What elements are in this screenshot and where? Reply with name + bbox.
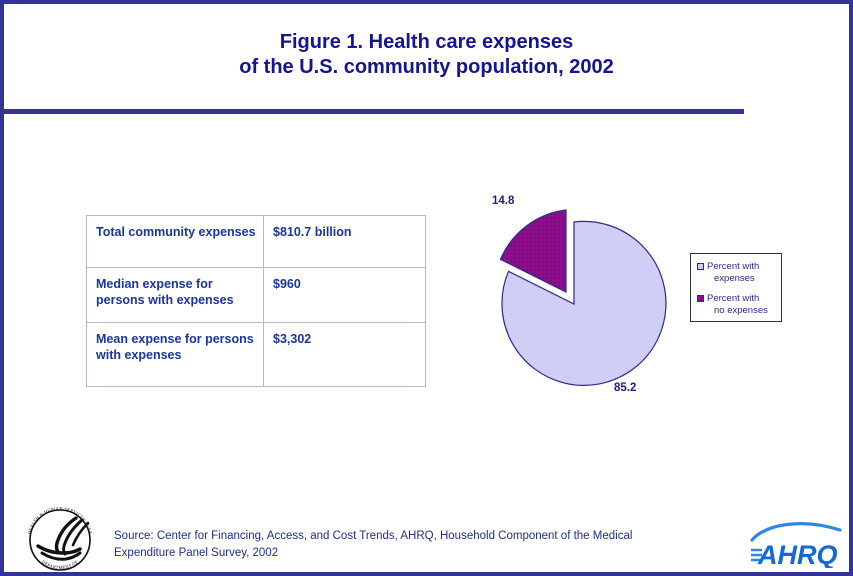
legend-item-percent-with-expenses: Percent with expenses [697,261,781,284]
pie-label-expenses: 85.2 [614,382,636,394]
source-note-line-2: Expenditure Panel Survey, 2002 [114,545,734,562]
legend-item-label-line-2: expenses [707,273,759,285]
table-row: Total community expenses $810.7 billion [87,216,426,268]
table-cell-label: Median expense for persons with expenses [87,268,264,323]
ahrq-logo: AHRQ [748,516,848,568]
table-cell-label: Total community expenses [87,216,264,268]
legend-item-label-line-1: Percent with [707,293,759,304]
table-cell-value: $810.7 billion [264,216,426,268]
table-cell-value: $3,302 [264,323,426,387]
pie-chart: 14.8 85.2 [474,189,689,404]
table-cell-label: Mean expense for persons with expenses [87,323,264,387]
legend-swatch-icon [697,295,704,302]
pie-label-no-expenses: 14.8 [492,195,514,207]
page-title-line-2: of the U.S. community population, 2002 [4,55,849,80]
slide-canvas: Figure 1. Health care expenses of the U.… [0,0,853,576]
source-note-line-1: Source: Center for Financing, Access, an… [114,528,734,545]
title-divider-rule [4,109,744,114]
summary-table: Total community expenses $810.7 billion … [86,215,426,387]
ahrq-logo-text: AHRQ [757,540,838,568]
legend-item-label-line-1: Percent with [707,261,759,272]
page-title-line-1: Figure 1. Health care expenses [4,30,849,55]
legend-item-percent-with-no-expenses: Percent with no expenses [697,293,781,316]
table-cell-value: $960 [264,268,426,323]
table-row: Median expense for persons with expenses… [87,268,426,323]
pie-chart-svg [474,189,689,404]
chart-legend: Percent with expenses Percent with no ex… [690,253,782,322]
legend-item-label-line-2: no expenses [707,305,768,317]
hhs-seal-icon: HEALTH & HUMAN SERVICES · USA DEPARTMENT… [20,502,112,572]
page-title: Figure 1. Health care expenses of the U.… [4,30,849,80]
svg-text:HEALTH & HUMAN SERVICES · USA: HEALTH & HUMAN SERVICES · USA [27,506,94,535]
legend-item-label: Percent with no expenses [707,293,768,316]
legend-swatch-icon [697,263,704,270]
svg-text:DEPARTMENT OF: DEPARTMENT OF [41,559,79,570]
source-note: Source: Center for Financing, Access, an… [114,528,734,562]
table-row: Mean expense for persons with expenses $… [87,323,426,387]
legend-item-label: Percent with expenses [707,261,759,284]
